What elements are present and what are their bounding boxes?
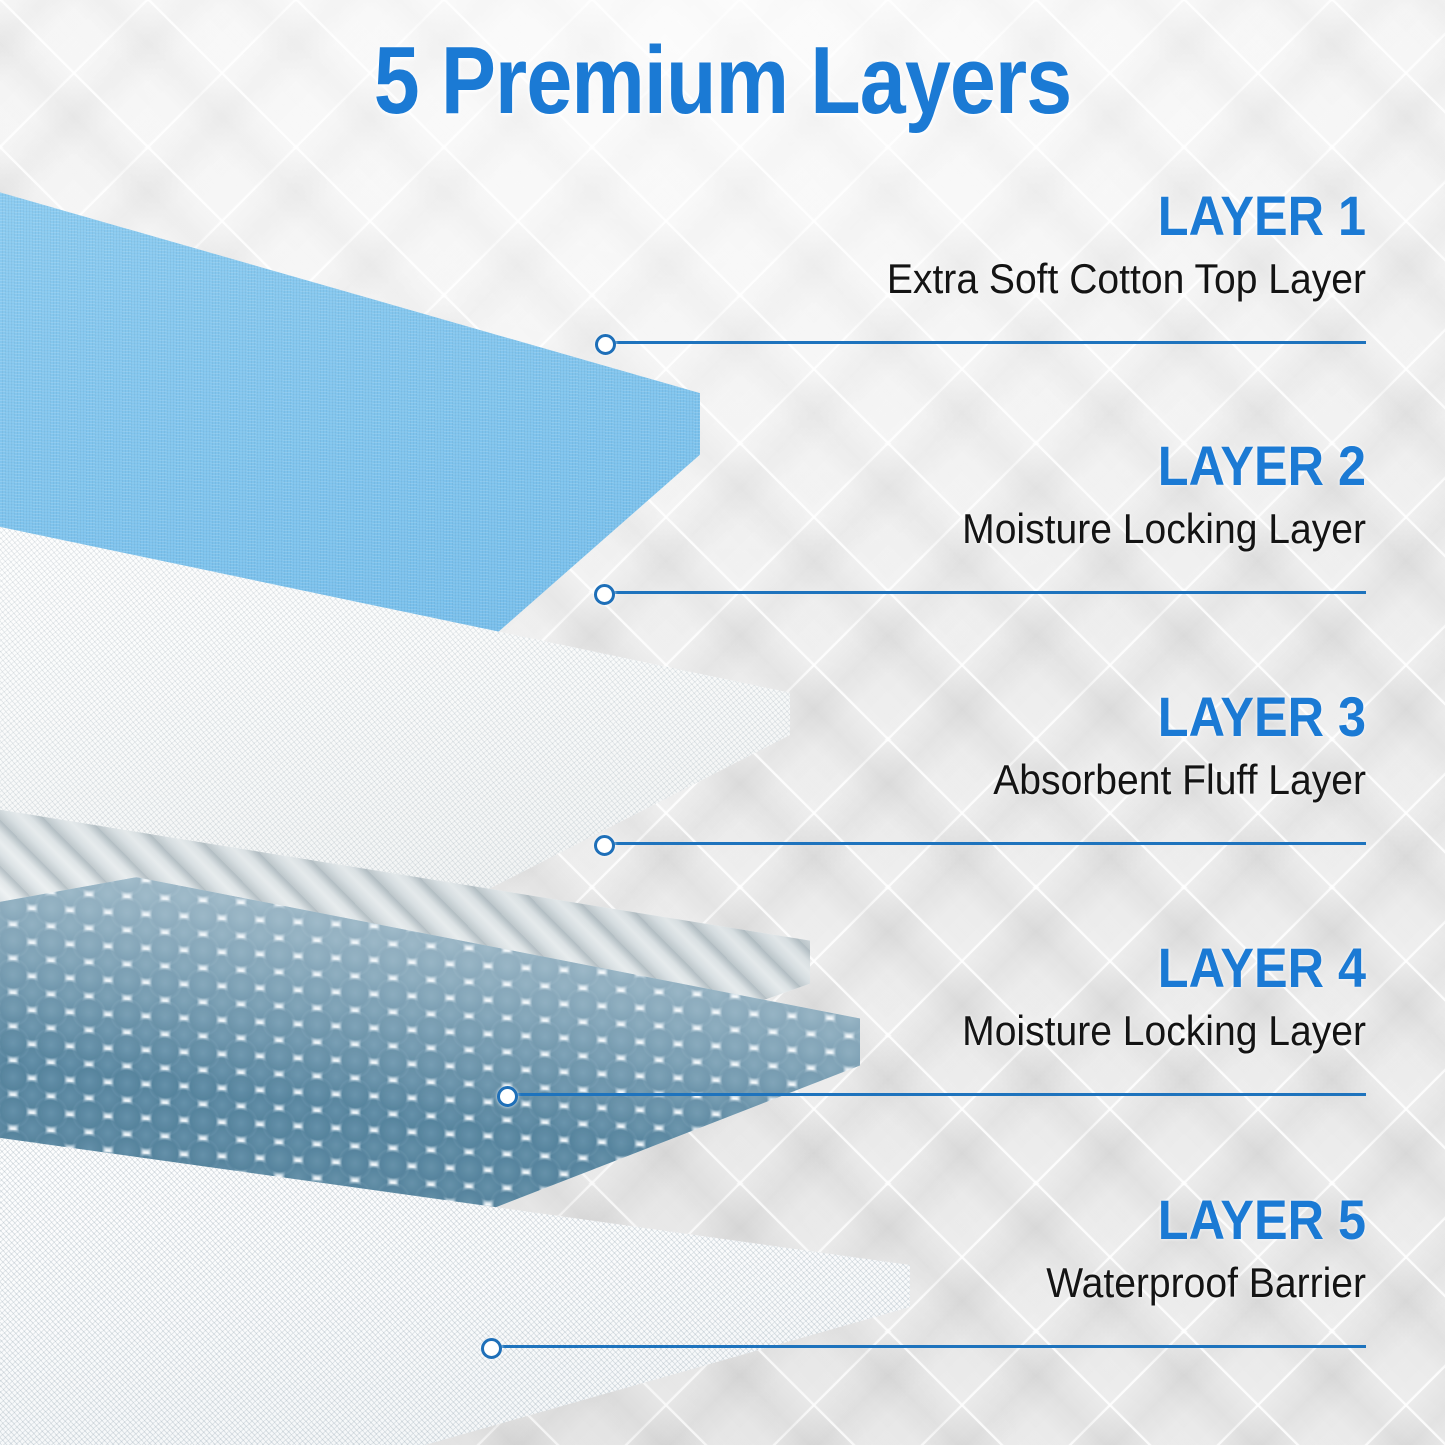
infographic-canvas: 5 Premium Layers LAYER 1 Extra Soft Cott… bbox=[0, 0, 1445, 1445]
page-title: 5 Premium Layers bbox=[101, 26, 1344, 136]
callout-layer-5: LAYER 5 Waterproof Barrier bbox=[726, 1192, 1366, 1306]
layer-3-number: LAYER 3 bbox=[790, 689, 1366, 745]
connector-line-layer-3 bbox=[613, 842, 1366, 845]
callout-layer-4: LAYER 4 Moisture Locking Layer bbox=[726, 940, 1366, 1054]
layer-5-description: Waterproof Barrier bbox=[771, 1260, 1366, 1306]
layer-1-number: LAYER 1 bbox=[790, 188, 1366, 244]
connector-line-layer-2 bbox=[613, 591, 1366, 594]
callout-layer-2: LAYER 2 Moisture Locking Layer bbox=[726, 438, 1366, 552]
layer-2-number: LAYER 2 bbox=[790, 438, 1366, 494]
connector-line-layer-1 bbox=[614, 341, 1366, 344]
layer-4-number: LAYER 4 bbox=[790, 940, 1366, 996]
connector-line-layer-4 bbox=[516, 1093, 1366, 1096]
layer-4-description: Moisture Locking Layer bbox=[771, 1008, 1366, 1054]
layer-3-description: Absorbent Fluff Layer bbox=[771, 757, 1366, 803]
callout-layer-3: LAYER 3 Absorbent Fluff Layer bbox=[726, 689, 1366, 803]
layer-2-description: Moisture Locking Layer bbox=[771, 506, 1366, 552]
layer-5-number: LAYER 5 bbox=[790, 1192, 1366, 1248]
layer-1-description: Extra Soft Cotton Top Layer bbox=[771, 256, 1366, 302]
callout-layer-1: LAYER 1 Extra Soft Cotton Top Layer bbox=[726, 188, 1366, 302]
connector-line-layer-5 bbox=[500, 1345, 1366, 1348]
